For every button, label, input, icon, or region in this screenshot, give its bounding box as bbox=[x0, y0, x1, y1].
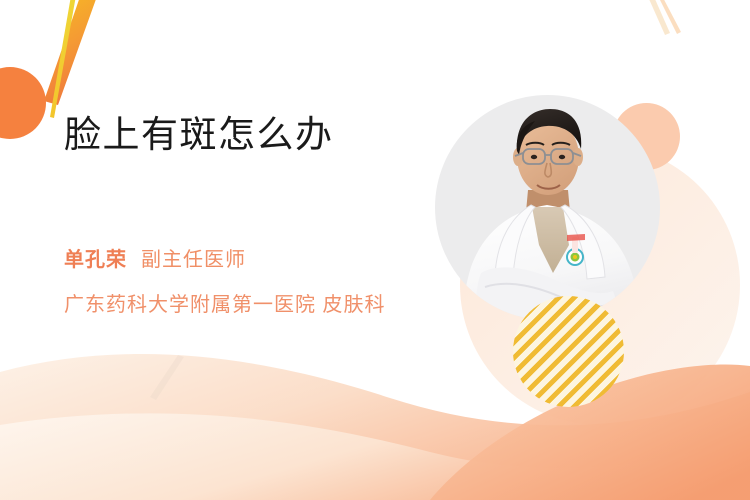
doctor-name: 单孔荣 bbox=[64, 249, 127, 271]
gray-circle-backdrop bbox=[435, 95, 660, 320]
doctor-role: 副主任医师 bbox=[141, 249, 246, 271]
orange-circle-decor bbox=[0, 67, 46, 139]
diagonal-stripes-top-left bbox=[44, 0, 100, 118]
title-block: 脸上有斑怎么办 bbox=[64, 112, 334, 157]
doctor-credential-line: 单孔荣副主任医师 bbox=[64, 243, 246, 272]
bottom-wave-mid bbox=[0, 413, 750, 500]
doctor-affiliation: 广东药科大学附属第一医院 皮肤科 bbox=[64, 288, 386, 317]
page-title: 脸上有斑怎么办 bbox=[64, 112, 334, 157]
portrait-cluster bbox=[420, 70, 750, 400]
striped-circle-decor bbox=[513, 296, 624, 407]
diagonal-stripe-bottom bbox=[150, 355, 184, 400]
poster-card: 脸上有斑怎么办 单孔荣副主任医师 广东药科大学附属第一医院 皮肤科 bbox=[0, 0, 750, 500]
doctor-portrait bbox=[435, 95, 660, 320]
diagonal-stripes-top-right bbox=[645, 0, 681, 35]
